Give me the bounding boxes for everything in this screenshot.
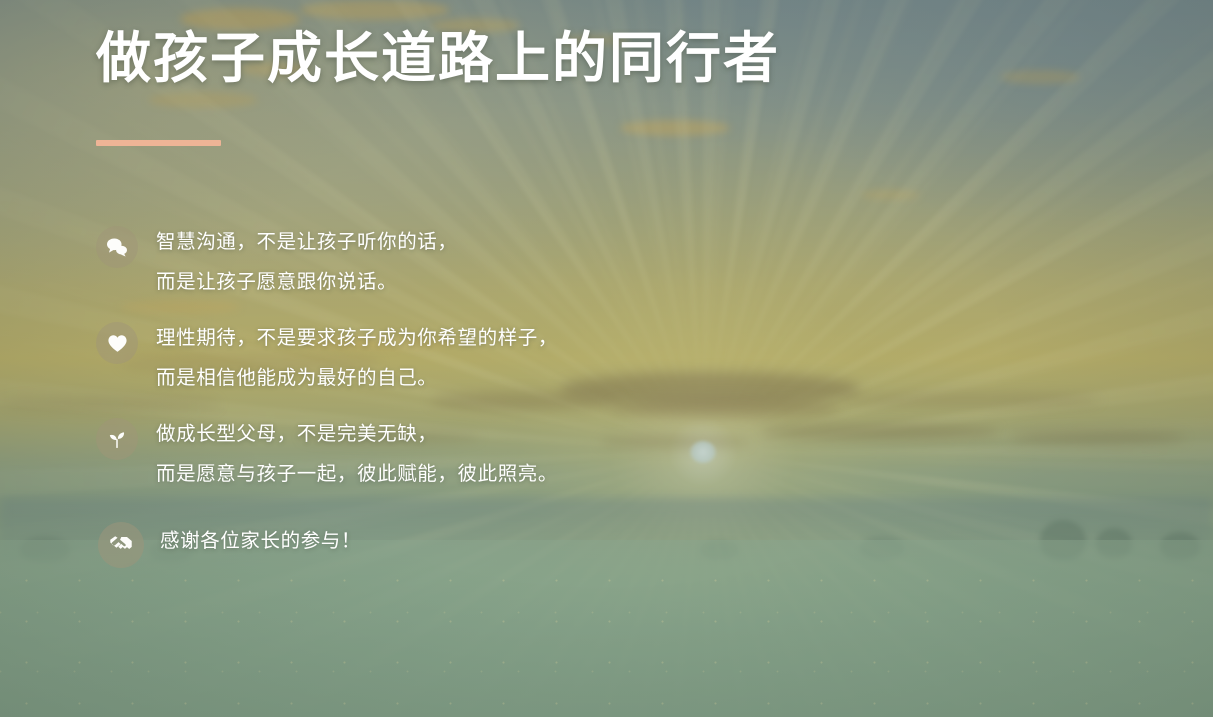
list-item: 理性期待，不是要求孩子成为你希望的样子， 而是相信他能成为最好的自己。 [96,318,876,398]
list-item: 智慧沟通，不是让孩子听你的话， 而是让孩子愿意跟你说话。 [96,222,876,302]
list-item-text: 做成长型父母，不是完美无缺， 而是愿意与孩子一起，彼此赋能，彼此照亮。 [156,414,558,494]
slide-content: 做孩子成长道路上的同行者 智慧沟通，不是让孩子听你的话， 而是让孩子愿意跟你说话… [0,0,1213,717]
title-accent-rule [96,140,221,146]
list-item-text: 理性期待，不是要求孩子成为你希望的样子， 而是相信他能成为最好的自己。 [156,318,558,398]
list-item-line: 而是让孩子愿意跟你说话。 [156,262,458,302]
closing-text: 感谢各位家长的参与！ [160,518,361,564]
list-item-line: 智慧沟通，不是让孩子听你的话， [156,222,458,262]
list-item-text: 智慧沟通，不是让孩子听你的话， 而是让孩子愿意跟你说话。 [156,222,458,302]
heart-icon [96,322,138,364]
closing-item: 感谢各位家长的参与！ [96,518,876,568]
list-item-line: 理性期待，不是要求孩子成为你希望的样子， [156,318,558,358]
seedling-icon [96,418,138,460]
points-list: 智慧沟通，不是让孩子听你的话， 而是让孩子愿意跟你说话。 理性期待，不是要求孩子… [96,222,876,584]
comments-icon [96,226,138,268]
list-item-line: 而是相信他能成为最好的自己。 [156,358,558,398]
handshake-icon [98,522,144,568]
list-item: 做成长型父母，不是完美无缺， 而是愿意与孩子一起，彼此赋能，彼此照亮。 [96,414,876,494]
presentation-slide: 做孩子成长道路上的同行者 智慧沟通，不是让孩子听你的话， 而是让孩子愿意跟你说话… [0,0,1213,717]
slide-title: 做孩子成长道路上的同行者 [96,24,780,93]
list-item-line: 而是愿意与孩子一起，彼此赋能，彼此照亮。 [156,454,558,494]
list-item-line: 做成长型父母，不是完美无缺， [156,414,558,454]
